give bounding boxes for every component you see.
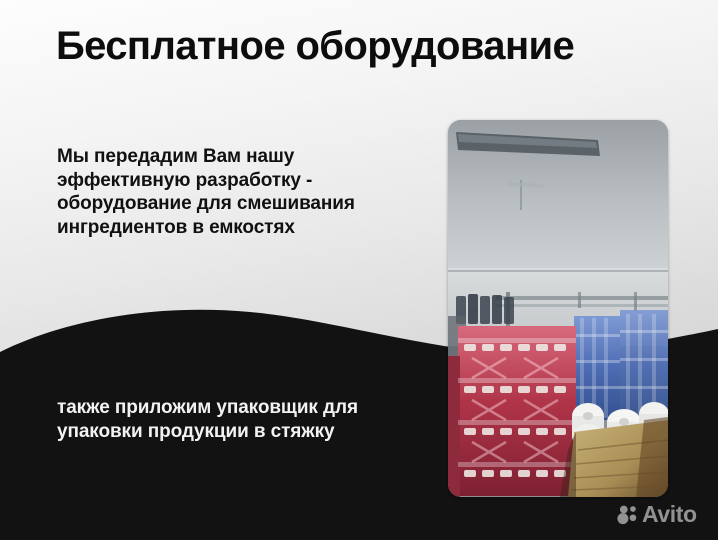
warehouse-photo bbox=[448, 120, 668, 497]
avito-wordmark: Avito bbox=[642, 503, 697, 526]
slide-canvas: Бесплатное оборудование Мы передадим Вам… bbox=[0, 0, 718, 540]
avito-dots-icon bbox=[616, 504, 638, 526]
secondary-paragraph: также приложим упаковщик для упаковки пр… bbox=[57, 396, 387, 443]
avito-watermark: Avito bbox=[616, 503, 697, 526]
page-title: Бесплатное оборудование bbox=[56, 22, 696, 70]
lead-paragraph: Мы передадим Вам нашу эффективную разраб… bbox=[57, 145, 417, 239]
